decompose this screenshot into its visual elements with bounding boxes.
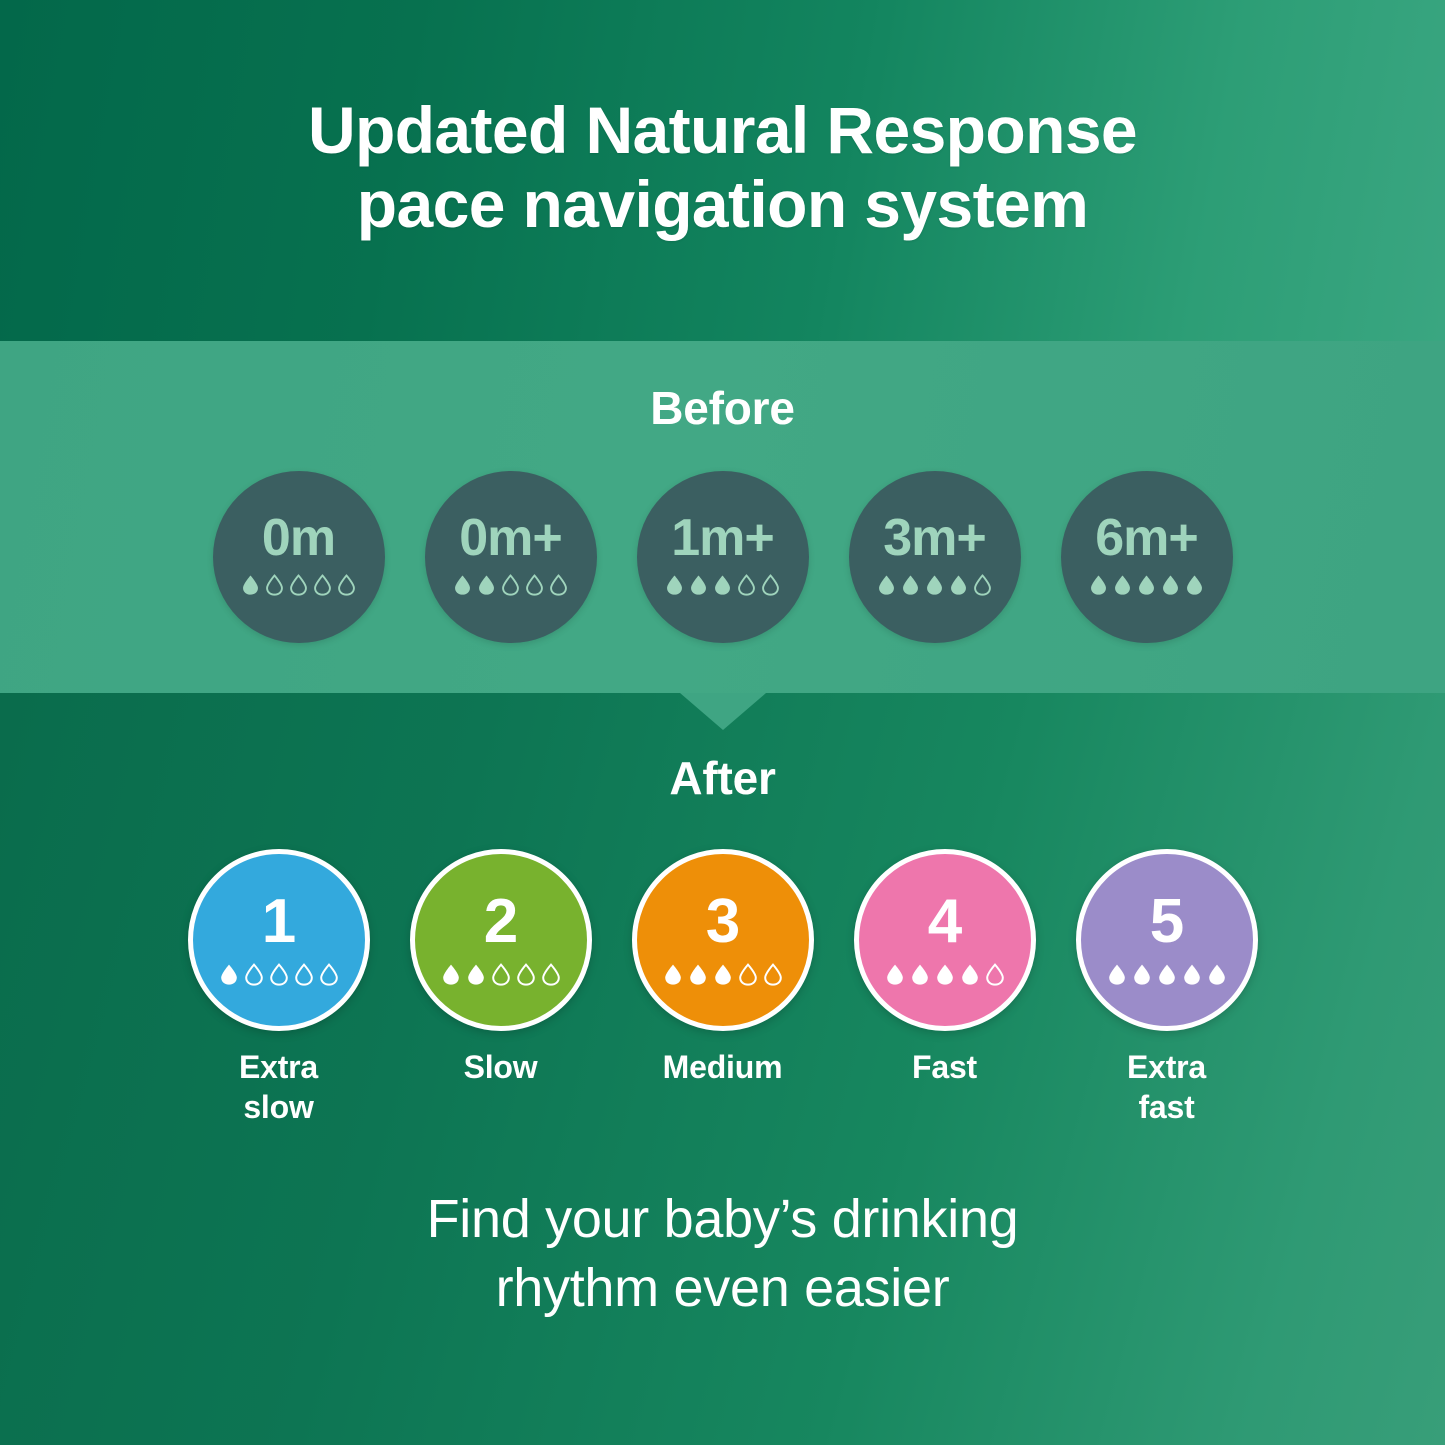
before-pace-item[interactable]: 0m [213,471,385,643]
after-pace-circle[interactable]: 3 [632,849,814,1031]
after-pace-label-line: Slow [464,1047,538,1087]
water-drop-icon [762,963,784,986]
water-drop-icon [664,574,685,596]
water-drop-icon [959,963,981,986]
water-drop-icon [876,574,897,596]
water-drop-icon [312,574,333,596]
water-drop-icon [240,574,261,596]
after-pace-label-line: slow [239,1087,318,1127]
water-drop-icon [909,963,931,986]
drop-meter [452,572,569,598]
after-pace-number: 2 [484,891,517,953]
after-pace-number: 4 [928,891,961,953]
before-age-label: 0m [262,512,335,564]
water-drop-icon [688,574,709,596]
water-drop-icon [288,574,309,596]
after-pace-label: Slow [464,1047,538,1087]
water-drop-icon [500,574,521,596]
before-pace-circle[interactable]: 0m [213,471,385,643]
after-pace-circle[interactable]: 2 [410,849,592,1031]
after-pace-label: Extraslow [239,1047,318,1128]
after-pace-label: Medium [663,1047,783,1087]
after-pace-label: Extrafast [1127,1047,1206,1128]
before-pace-circle[interactable]: 0m+ [425,471,597,643]
after-pace-item[interactable]: 3Medium [632,849,814,1087]
water-drop-icon [1206,963,1228,986]
after-pace-item[interactable]: 4Fast [854,849,1036,1087]
water-drop-icon [1106,963,1128,986]
water-drop-icon [948,574,969,596]
water-drop-icon [884,963,906,986]
before-pace-item[interactable]: 6m+ [1061,471,1233,643]
after-pace-circle[interactable]: 5 [1076,849,1258,1031]
water-drop-icon [293,963,315,986]
before-pace-item[interactable]: 0m+ [425,471,597,643]
drop-meter [884,962,1006,988]
infographic-page: Updated Natural Response pace navigation… [0,0,1445,1445]
drop-meter [664,572,781,598]
before-circle-row: 0m0m+1m+3m+6m+ [0,471,1445,643]
water-drop-icon [336,574,357,596]
water-drop-icon [760,574,781,596]
before-pace-circle[interactable]: 1m+ [637,471,809,643]
chevron-down-arrow-icon [680,693,766,730]
water-drop-icon [515,963,537,986]
after-pace-label-line: fast [1127,1087,1206,1127]
water-drop-icon [687,963,709,986]
drop-meter [240,572,357,598]
caption: Find your baby’s drinking rhythm even ea… [0,1185,1445,1323]
after-pace-label-line: Medium [663,1047,783,1087]
after-pace-circle[interactable]: 1 [188,849,370,1031]
after-pace-label-line: Fast [912,1047,977,1087]
water-drop-icon [1156,963,1178,986]
water-drop-icon [924,574,945,596]
water-drop-icon [490,963,512,986]
water-drop-icon [712,574,733,596]
after-section: After 1Extraslow2Slow3Medium4Fast5Extraf… [0,693,1445,1445]
water-drop-icon [662,963,684,986]
after-pace-item[interactable]: 2Slow [410,849,592,1087]
water-drop-icon [1131,963,1153,986]
water-drop-icon [548,574,569,596]
drop-meter [1088,572,1205,598]
water-drop-icon [900,574,921,596]
water-drop-icon [465,963,487,986]
after-pace-label-line: Extra [239,1047,318,1087]
water-drop-icon [1136,574,1157,596]
after-pace-number: 1 [262,891,295,953]
header-band: Updated Natural Response pace navigation… [0,0,1445,341]
after-pace-label-line: Extra [1127,1047,1206,1087]
water-drop-icon [1088,574,1109,596]
water-drop-icon [934,963,956,986]
after-pace-circle[interactable]: 4 [854,849,1036,1031]
water-drop-icon [318,963,340,986]
after-pace-item[interactable]: 1Extraslow [188,849,370,1128]
water-drop-icon [736,574,757,596]
page-title-line-2: pace navigation system [308,168,1137,242]
water-drop-icon [1184,574,1205,596]
water-drop-icon [218,963,240,986]
before-pace-circle[interactable]: 3m+ [849,471,1021,643]
page-title: Updated Natural Response pace navigation… [308,94,1137,248]
before-age-label: 0m+ [459,512,562,564]
caption-line-1: Find your baby’s drinking [0,1185,1445,1254]
water-drop-icon [524,574,545,596]
drop-meter [662,962,784,988]
before-age-label: 1m+ [671,512,774,564]
before-pace-item[interactable]: 1m+ [637,471,809,643]
water-drop-icon [440,963,462,986]
drop-meter [876,572,993,598]
before-age-label: 3m+ [883,512,986,564]
water-drop-icon [540,963,562,986]
water-drop-icon [452,574,473,596]
before-section: Before 0m0m+1m+3m+6m+ [0,341,1445,693]
water-drop-icon [476,574,497,596]
water-drop-icon [737,963,759,986]
drop-meter [1106,962,1228,988]
drop-meter [218,962,340,988]
after-pace-label: Fast [912,1047,977,1087]
water-drop-icon [264,574,285,596]
before-pace-item[interactable]: 3m+ [849,471,1021,643]
page-title-line-1: Updated Natural Response [308,94,1137,168]
caption-line-2: rhythm even easier [0,1254,1445,1323]
water-drop-icon [972,574,993,596]
drop-meter [440,962,562,988]
before-pace-circle[interactable]: 6m+ [1061,471,1233,643]
water-drop-icon [1112,574,1133,596]
after-pace-number: 5 [1150,891,1183,953]
water-drop-icon [984,963,1006,986]
after-circle-row: 1Extraslow2Slow3Medium4Fast5Extrafast [0,849,1445,1128]
water-drop-icon [243,963,265,986]
water-drop-icon [1160,574,1181,596]
after-pace-number: 3 [706,891,739,953]
before-age-label: 6m+ [1095,512,1198,564]
water-drop-icon [1181,963,1203,986]
before-section-title: Before [0,341,1445,435]
water-drop-icon [268,963,290,986]
water-drop-icon [712,963,734,986]
after-pace-item[interactable]: 5Extrafast [1076,849,1258,1128]
